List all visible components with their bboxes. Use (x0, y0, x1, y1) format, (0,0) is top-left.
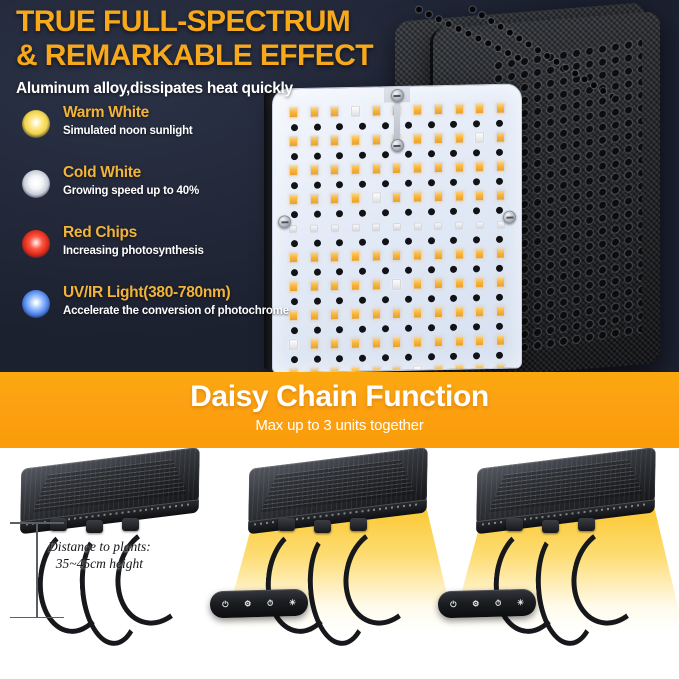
led-chip (330, 193, 339, 204)
led-chip (434, 162, 443, 173)
led-chip (392, 192, 401, 203)
connector-plug-3 (350, 518, 367, 531)
led-chip (413, 249, 422, 260)
led-chip (372, 134, 381, 145)
monstera-plant (450, 569, 679, 679)
led-chip (496, 103, 505, 114)
led-solder-dot (336, 152, 343, 159)
led-chip (413, 307, 422, 318)
led-solder-dot (473, 323, 480, 330)
uv-ir-light-orb-icon (22, 290, 50, 318)
led-chip (372, 192, 381, 203)
led-solder-dot (336, 239, 343, 246)
led-solder-dot (314, 239, 321, 246)
red-chips-orb-icon (22, 230, 50, 258)
headline-subtitle: Aluminum alloy,dissipates heat quickly (16, 80, 416, 98)
led-solder-dot (405, 208, 412, 215)
feature-desc: Growing speed up to 40% (63, 185, 199, 197)
led-solder-dot (314, 210, 321, 217)
product-feature-graphic: TRUE FULL-SPECTRUM & REMARKABLE EFFECT A… (0, 0, 679, 679)
warm-white-orb-icon (22, 110, 50, 138)
feature-title: Warm White (63, 104, 149, 122)
led-chip (289, 165, 298, 176)
led-solder-dot (405, 179, 412, 186)
connector-plug-3 (578, 518, 595, 531)
led-chip (372, 337, 381, 348)
led-chip (330, 135, 339, 146)
led-solder-dot (496, 293, 503, 300)
led-solder-dot (314, 268, 321, 275)
led-solder-dot (359, 122, 366, 129)
led-chip (475, 335, 484, 346)
led-chip (413, 104, 422, 115)
led-chip (413, 133, 422, 144)
led-chip (455, 336, 464, 347)
led-chip (496, 132, 505, 143)
led-chip (289, 194, 298, 205)
banner-title: Daisy Chain Function (0, 378, 679, 416)
led-chip (434, 336, 443, 347)
led-chip (434, 307, 443, 318)
led-solder-dot (496, 351, 503, 358)
led-solder-dot (336, 181, 343, 188)
led-solder-dot (382, 238, 389, 245)
led-solder-dot (428, 150, 435, 157)
led-solder-dot (291, 153, 298, 160)
led-solder-dot (450, 207, 457, 214)
remote-controller[interactable]: ⏻⚙⏱☀ (438, 589, 537, 619)
uv-led-chip (455, 221, 463, 229)
led-chip (351, 164, 360, 175)
led-solder-dot (496, 148, 503, 155)
led-solder-dot (450, 120, 457, 127)
led-chip (392, 163, 401, 174)
led-solder-dot (428, 208, 435, 215)
uv-led-chip (310, 224, 318, 232)
led-solder-dot (382, 296, 389, 303)
led-chip (496, 277, 505, 288)
led-chip (475, 161, 484, 172)
led-chip (330, 280, 339, 291)
led-chip (330, 106, 339, 117)
led-solder-dot (336, 210, 343, 217)
cold-white-orb-icon (22, 170, 50, 198)
led-solder-dot (496, 235, 503, 242)
led-solder-dot (405, 324, 412, 331)
led-chip (310, 107, 319, 118)
feature-item-cold-white: Cold White Growing speed up to 40% (18, 166, 288, 214)
led-chip (310, 194, 319, 205)
led-chip (372, 279, 381, 290)
led-solder-dot (450, 265, 457, 272)
led-solder-dot (428, 295, 435, 302)
led-solder-dot (382, 151, 389, 158)
led-chip (289, 252, 298, 263)
feature-title: Cold White (63, 164, 141, 182)
headline-line-1: TRUE FULL-SPECTRUM (16, 5, 416, 39)
led-chip (330, 309, 339, 320)
timer-button[interactable]: ⏱ (491, 596, 505, 610)
led-solder-dot (314, 123, 321, 130)
led-chip (310, 281, 319, 292)
distance-annotation-label: Distance to plants:35~45cm height (48, 538, 151, 572)
led-solder-dot (291, 298, 298, 305)
led-solder-dot (405, 237, 412, 244)
led-solder-dot (359, 354, 366, 361)
led-chip (413, 278, 422, 289)
headline-line-2: & REMARKABLE EFFECT (16, 39, 416, 73)
led-chip (330, 251, 339, 262)
led-solder-dot (291, 124, 298, 131)
led-solder-dot (314, 297, 321, 304)
uv-led-chip (414, 222, 422, 230)
led-chip (392, 279, 401, 290)
led-chip (496, 248, 505, 259)
led-chip (413, 162, 422, 173)
led-chip (289, 339, 298, 350)
screw-icon-middle (391, 139, 404, 152)
led-solder-dot (496, 322, 503, 329)
led-solder-dot (473, 120, 480, 127)
led-solder-dot (314, 355, 321, 362)
led-solder-dot (336, 297, 343, 304)
led-solder-dot (405, 121, 412, 128)
led-solder-dot (473, 149, 480, 156)
uv-led-chip (352, 223, 360, 231)
led-solder-dot (291, 269, 298, 276)
led-chip (351, 280, 360, 291)
led-solder-dot (496, 177, 503, 184)
led-solder-dot (382, 267, 389, 274)
led-solder-dot (382, 325, 389, 332)
led-solder-dot (473, 236, 480, 243)
daisy-chain-banner: Daisy Chain Function Max up to 3 units t… (0, 372, 679, 448)
led-chip (330, 338, 339, 349)
connector-plug-1 (278, 518, 295, 531)
led-chip (455, 162, 464, 173)
led-solder-dot (428, 324, 435, 331)
led-solder-dot (359, 296, 366, 303)
led-chip (475, 103, 484, 114)
uv-led-chip (476, 221, 484, 229)
led-chip (372, 250, 381, 261)
led-solder-dot (405, 266, 412, 273)
led-chip (310, 165, 319, 176)
led-solder-dot (359, 267, 366, 274)
led-solder-dot (450, 178, 457, 185)
led-chip (455, 104, 464, 115)
dimmer-button[interactable]: ☀ (513, 595, 527, 609)
grow-light-unit-2[interactable]: ⏻⚙⏱☀ (222, 448, 454, 679)
led-solder-dot (473, 178, 480, 185)
uv-led-chip (289, 225, 297, 233)
monstera-plant (222, 569, 454, 679)
led-solder-dot (359, 209, 366, 216)
led-chip (392, 337, 401, 348)
power-button[interactable]: ⏻ (218, 597, 232, 611)
led-chip (455, 307, 464, 318)
led-solder-dot (473, 352, 480, 359)
remote-controller[interactable]: ⏻⚙⏱☀ (210, 589, 309, 619)
led-chip (372, 163, 381, 174)
led-solder-dot (314, 152, 321, 159)
led-solder-dot (359, 180, 366, 187)
connector-plug-2 (542, 520, 559, 533)
led-solder-dot (291, 356, 298, 363)
led-chip (310, 310, 319, 321)
led-chip (434, 133, 443, 144)
banner-subtitle: Max up to 3 units together (0, 416, 679, 436)
led-chip (475, 132, 484, 143)
led-chip (455, 191, 464, 202)
led-solder-dot (450, 149, 457, 156)
led-solder-dot (359, 238, 366, 245)
led-solder-dot (496, 206, 503, 213)
distance-label-line-2: 35~45cm height (48, 555, 151, 572)
led-solder-dot (336, 123, 343, 130)
led-chip (310, 136, 319, 147)
led-solder-dot (473, 294, 480, 301)
led-solder-dot (336, 355, 343, 362)
led-chip (351, 193, 360, 204)
led-solder-dot (382, 354, 389, 361)
led-solder-dot (314, 326, 321, 333)
led-solder-dot (473, 265, 480, 272)
connector-plug-3 (122, 518, 139, 531)
distance-dimension-line (36, 522, 38, 618)
lamp-head[interactable] (248, 448, 428, 525)
lamp-head[interactable] (476, 448, 656, 525)
feature-desc: Simulated noon sunlight (63, 125, 193, 137)
led-solder-dot (382, 209, 389, 216)
led-chip (392, 250, 401, 261)
monstera-plant (0, 569, 226, 679)
led-chip (475, 306, 484, 317)
top-feature-panel: TRUE FULL-SPECTRUM & REMARKABLE EFFECT A… (0, 0, 679, 372)
led-chip (289, 310, 298, 321)
led-chip (475, 190, 484, 201)
led-chip (475, 248, 484, 259)
led-solder-dot (405, 295, 412, 302)
connector-plug-1 (50, 518, 67, 531)
led-solder-dot (291, 211, 298, 218)
led-solder-dot (450, 236, 457, 243)
led-chip (372, 308, 381, 319)
led-chip (372, 105, 381, 116)
led-solder-dot (359, 151, 366, 158)
timer-button[interactable]: ⏱ (263, 596, 277, 610)
led-chip (434, 249, 443, 260)
feature-title: UV/IR Light(380-780nm) (63, 284, 230, 302)
led-chip (289, 136, 298, 147)
connector-plug-2 (314, 520, 331, 533)
headline-block: TRUE FULL-SPECTRUM & REMARKABLE EFFECT A… (16, 5, 416, 98)
led-chip (289, 281, 298, 292)
led-solder-dot (473, 207, 480, 214)
dimmer-button[interactable]: ☀ (285, 595, 299, 609)
led-chip (455, 249, 464, 260)
spectrum-feature-list: Warm White Simulated noon sunlight Cold … (18, 106, 288, 346)
uv-led-chip (393, 222, 401, 230)
connector-plug-2 (86, 520, 103, 533)
led-solder-dot (291, 182, 298, 189)
led-solder-dot (496, 119, 503, 126)
led-chip (310, 339, 319, 350)
led-chip (413, 191, 422, 202)
led-solder-dot (291, 327, 298, 334)
led-solder-dot (428, 179, 435, 186)
led-chip (496, 161, 505, 172)
feature-title: Red Chips (63, 224, 137, 242)
led-chip (434, 104, 443, 115)
led-chip (496, 306, 505, 317)
uv-led-chip (331, 224, 339, 232)
uv-led-chip (372, 223, 380, 231)
led-solder-dot (314, 181, 321, 188)
led-solder-dot (428, 353, 435, 360)
daisy-chain-scene: ⏻⚙⏱☀⏻⚙⏱☀Distance to plants:35~45cm heigh… (0, 448, 679, 679)
led-chip (434, 191, 443, 202)
led-chip (351, 135, 360, 146)
led-chip (351, 251, 360, 262)
led-chip (392, 308, 401, 319)
led-chip (434, 278, 443, 289)
feature-desc: Increasing photosynthesis (63, 245, 204, 257)
uv-led-chip (497, 220, 505, 228)
spectrum-button[interactable]: ⚙ (469, 597, 483, 611)
led-solder-dot (450, 323, 457, 330)
power-button[interactable]: ⏻ (446, 597, 460, 611)
led-solder-dot (496, 264, 503, 271)
lamp-head[interactable] (20, 448, 200, 525)
led-solder-dot (405, 353, 412, 360)
feature-item-uv-ir-light: UV/IR Light(380-780nm) Accelerate the co… (18, 286, 288, 334)
plant-leaf (0, 674, 129, 679)
led-solder-dot (336, 326, 343, 333)
led-solder-dot (428, 266, 435, 273)
led-chip (351, 309, 360, 320)
feature-item-warm-white: Warm White Simulated noon sunlight (18, 106, 288, 154)
led-chip (496, 190, 505, 201)
led-solder-dot (336, 268, 343, 275)
spectrum-button[interactable]: ⚙ (241, 597, 255, 611)
led-solder-dot (450, 294, 457, 301)
led-chip (289, 107, 298, 118)
led-solder-dot (428, 237, 435, 244)
led-solder-dot (291, 240, 298, 247)
led-solder-dot (405, 150, 412, 157)
led-chip (310, 252, 319, 263)
led-chip (413, 336, 422, 347)
led-chip (351, 106, 360, 117)
connector-plug-1 (506, 518, 523, 531)
led-chip (351, 338, 360, 349)
feature-desc: Accelerate the conversion of photochrome (63, 305, 289, 317)
led-solder-dot (382, 122, 389, 129)
led-solder-dot (450, 352, 457, 359)
led-chip (330, 164, 339, 175)
led-chip (455, 133, 464, 144)
led-chip (475, 277, 484, 288)
led-solder-dot (428, 121, 435, 128)
grow-light-unit-3[interactable]: ⏻⚙⏱☀ (450, 448, 679, 679)
led-chip (496, 335, 505, 346)
feature-item-red-chips: Red Chips Increasing photosynthesis (18, 226, 288, 274)
led-chip (455, 278, 464, 289)
led-solder-dot (382, 180, 389, 187)
led-pcb-panel (272, 83, 522, 372)
distance-label-line-1: Distance to plants: (48, 538, 151, 555)
uv-led-chip (434, 222, 442, 230)
led-solder-dot (359, 325, 366, 332)
